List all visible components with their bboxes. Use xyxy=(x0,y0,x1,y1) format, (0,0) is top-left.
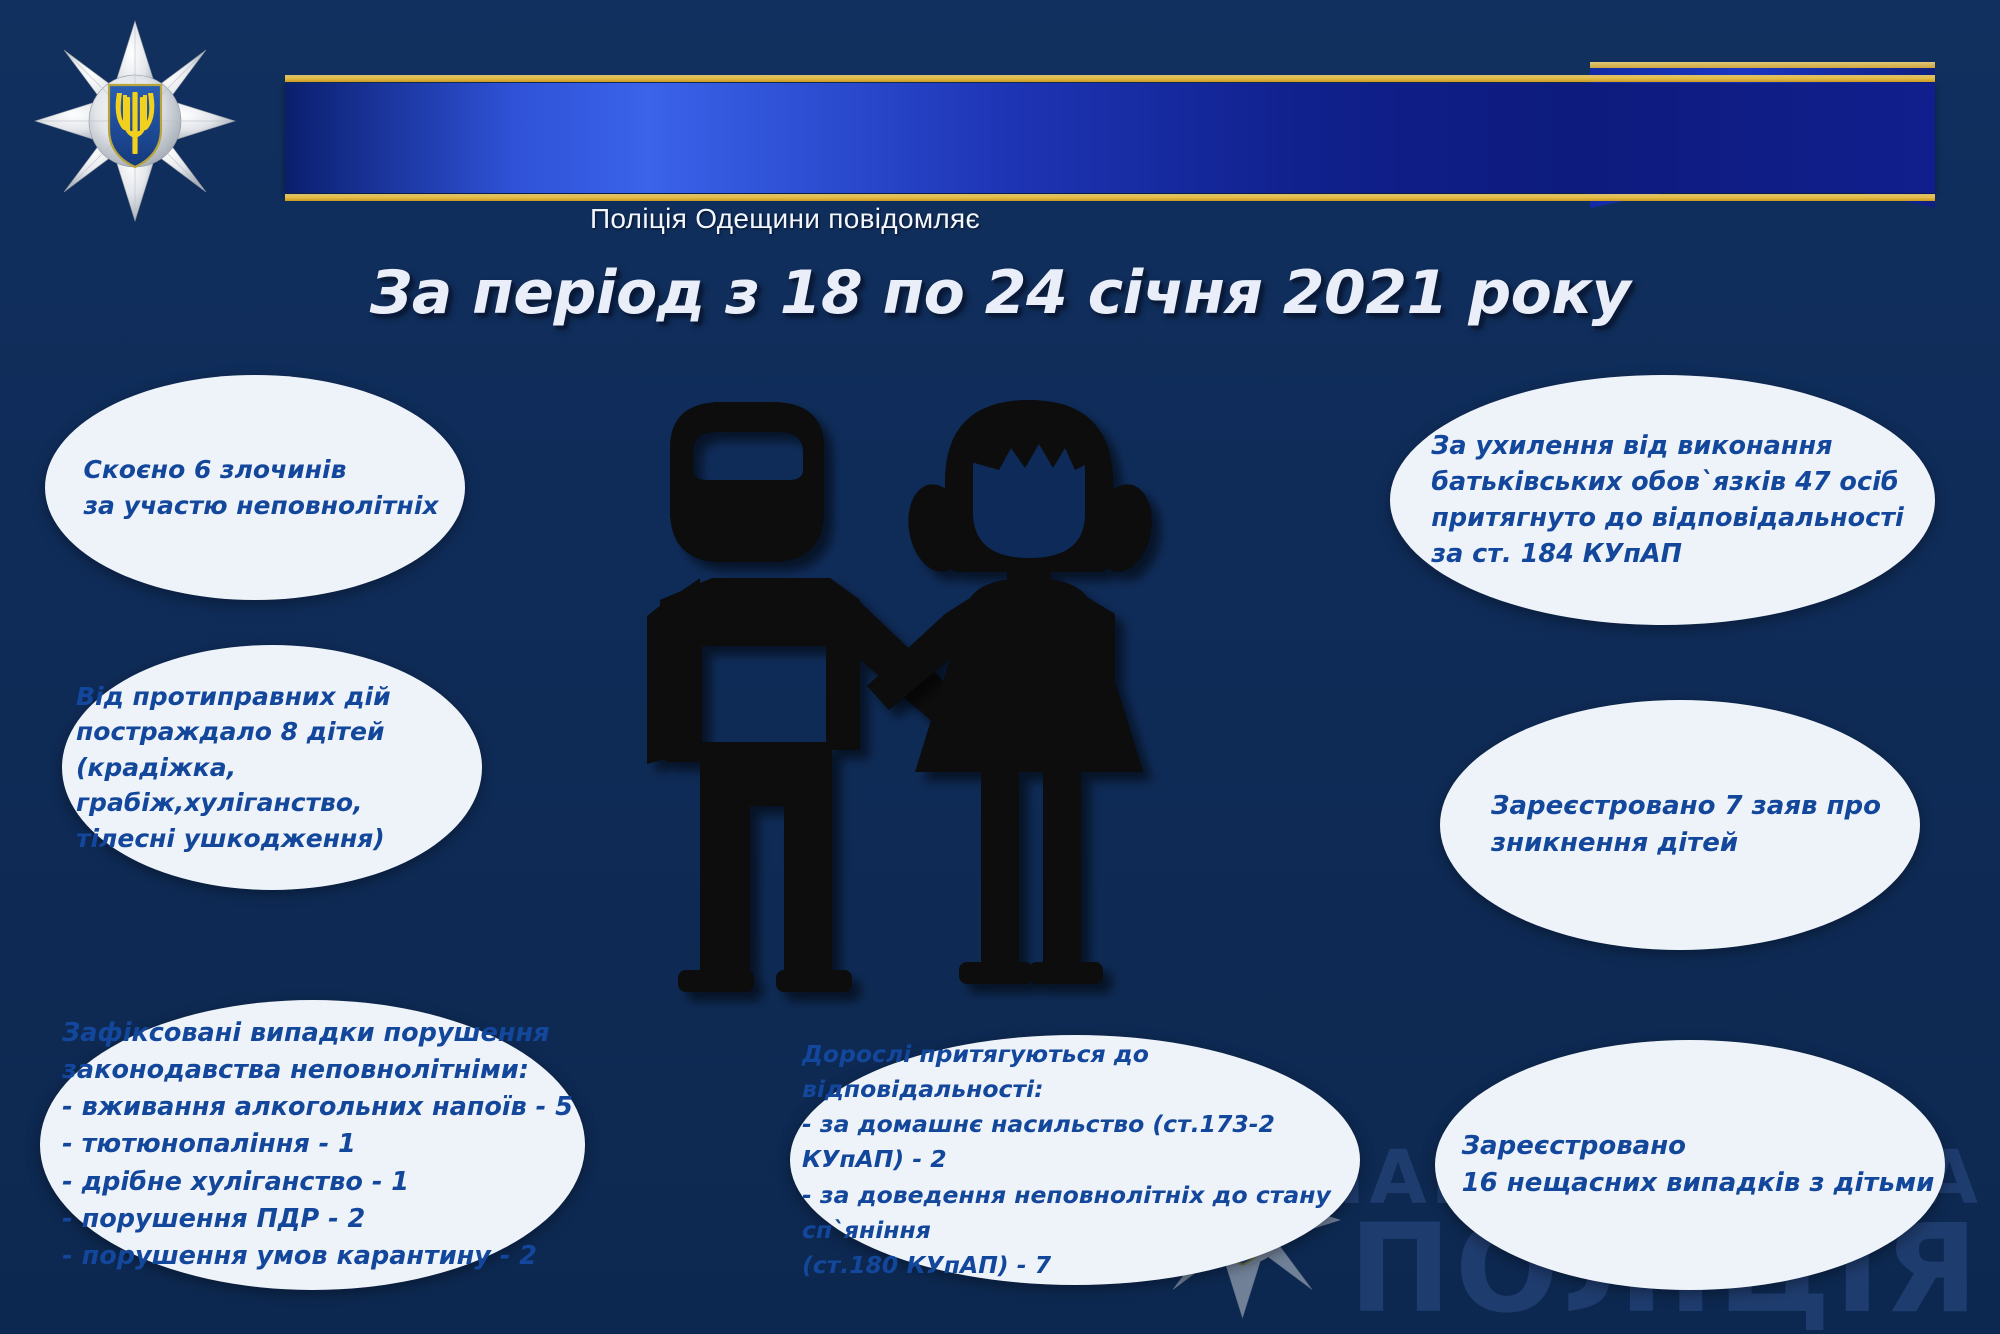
page-title: За період з 18 по 24 січня 2021 року xyxy=(0,258,2000,328)
stat-bubble-accidents-text: Зареєстровано 16 нещасних випадків з діт… xyxy=(1462,1128,1935,1202)
police-star-emblem-icon xyxy=(30,18,240,223)
stat-bubble-victims-text: Від протиправних дій постраждало 8 дітей… xyxy=(76,679,482,857)
stat-bubble-parental-duties-text: За ухилення від виконання батьківських о… xyxy=(1431,428,1904,573)
infographic-poster: Поліція Одещини повідомляє xyxy=(0,0,2000,1334)
stat-bubble-parental-duties: За ухилення від виконання батьківських о… xyxy=(1390,375,1935,625)
stat-bubble-crimes-text: Скоєно 6 злочинів за участю неповнолітні… xyxy=(83,452,438,523)
stat-bubble-missing-children: Зареєстровано 7 заяв про зникнення дітей xyxy=(1440,700,1920,950)
stat-bubble-crimes: Скоєно 6 злочинів за участю неповнолітні… xyxy=(45,375,465,600)
banner-ribbon: Поліція Одещини повідомляє xyxy=(285,83,1935,193)
stat-bubble-accidents: Зареєстровано 16 нещасних випадків з діт… xyxy=(1435,1040,1945,1290)
stat-bubble-violations: Зафіксовані випадки порушення законодавс… xyxy=(40,1000,585,1290)
boy-and-girl-silhouette-icon xyxy=(615,390,1345,1020)
stat-bubble-adults-liability: Дорослі притягуються до відповідальності… xyxy=(790,1035,1360,1285)
stat-bubble-violations-text: Зафіксовані випадки порушення законодавс… xyxy=(62,1015,573,1276)
stat-bubble-missing-children-text: Зареєстровано 7 заяв про зникнення дітей xyxy=(1491,788,1881,862)
stat-bubble-victims: Від протиправних дій постраждало 8 дітей… xyxy=(62,645,482,890)
stat-bubble-adults-liability-text: Дорослі притягуються до відповідальності… xyxy=(802,1037,1360,1284)
header-banner: Поліція Одещини повідомляє xyxy=(0,0,2000,258)
banner-label: Поліція Одещини повідомляє xyxy=(590,203,980,235)
